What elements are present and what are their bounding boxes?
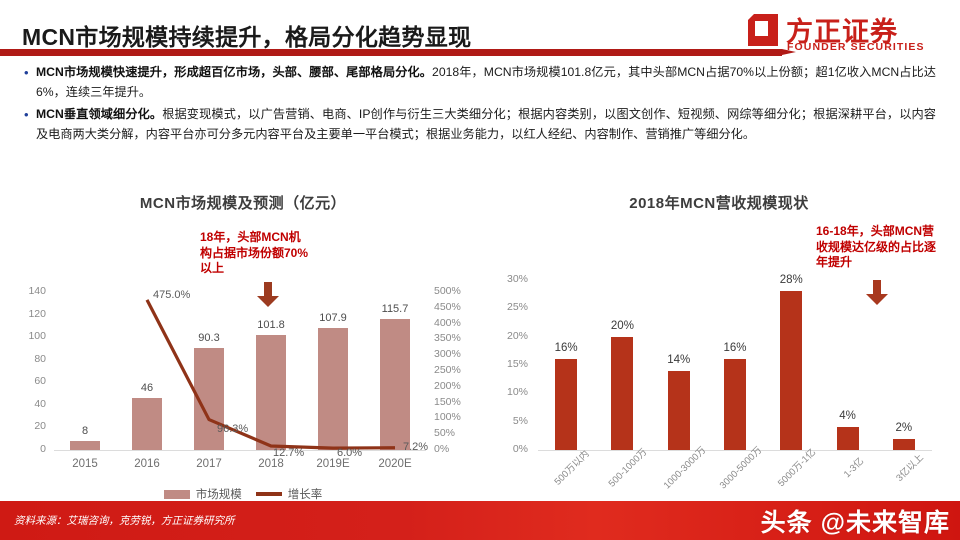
x-axis-line	[54, 450, 426, 451]
bar	[132, 398, 162, 450]
growth-rate-label: 6.0%	[337, 447, 362, 459]
chart-mcn-market-size: MCN市场规模及预测（亿元） 140120100806040200500%450…	[8, 192, 478, 504]
bullet-list: • MCN市场规模快速提升，形成超百亿市场，头部、腰部、尾部格局分化。2018年…	[24, 63, 936, 147]
bar-value-label: 4%	[818, 410, 878, 422]
slide: MCN市场规模持续提升，格局分化趋势显现 方正证券 FOUNDER SECURI…	[0, 0, 960, 540]
bar	[837, 427, 859, 450]
bar-value-label: 107.9	[303, 312, 363, 324]
y2-axis-tick-label: 500%	[434, 285, 461, 297]
growth-rate-label: 7.2%	[403, 441, 428, 453]
source-note: 资料来源：艾瑞咨询，克劳锐，方正证券研究所	[14, 513, 235, 528]
y-axis-tick-label: 80	[12, 353, 46, 365]
y-axis-tick-label: 20	[12, 420, 46, 432]
y2-axis-tick-label: 450%	[434, 301, 461, 313]
y2-axis-tick-label: 300%	[434, 348, 461, 360]
bar-value-label: 8	[55, 425, 115, 437]
bullet-text: MCN市场规模快速提升，形成超百亿市场，头部、腰部、尾部格局分化。2018年，M…	[36, 63, 936, 102]
chart-legend: 市场规模 增长率	[8, 486, 478, 502]
y-axis-tick-label: 0%	[490, 443, 528, 455]
bullet-lead: MCN市场规模快速提升，形成超百亿市场，头部、腰部、尾部格局分化。	[36, 65, 432, 79]
bar-value-label: 14%	[649, 354, 709, 366]
logo-english-name: FOUNDER SECURITIES	[787, 41, 925, 53]
bar	[256, 335, 286, 450]
y-axis-tick-label: 120	[12, 308, 46, 320]
x-axis-category-label: 2016	[113, 458, 181, 470]
bar-value-label: 16%	[536, 342, 596, 354]
bar	[611, 337, 633, 450]
x-axis-category-label: 2017	[175, 458, 243, 470]
y-axis-tick-label: 60	[12, 375, 46, 387]
y-axis-tick-label: 5%	[490, 415, 528, 427]
bar-value-label: 20%	[592, 320, 652, 332]
x-axis-category-label: 2018	[237, 458, 305, 470]
y-axis-tick-label: 10%	[490, 386, 528, 398]
growth-rate-label: 475.0%	[153, 289, 190, 301]
header-rule	[0, 49, 782, 56]
legend-swatch-bar	[164, 490, 190, 499]
bullet-lead: MCN垂直领域细分化。	[36, 107, 162, 121]
legend-item-line: 增长率	[256, 486, 323, 502]
y2-axis-tick-label: 400%	[434, 317, 461, 329]
legend-label-bar: 市场规模	[196, 486, 242, 502]
bar-value-label: 2%	[874, 422, 934, 434]
chart-plot-area: 140120100806040200500%450%400%350%300%25…	[8, 192, 478, 504]
slide-header: MCN市场规模持续提升，格局分化趋势显现 方正证券 FOUNDER SECURI…	[0, 0, 960, 56]
bar-value-label: 16%	[705, 342, 765, 354]
legend-swatch-line	[256, 492, 282, 496]
bar	[555, 359, 577, 450]
slide-footer: 资料来源：艾瑞咨询，克劳锐，方正证券研究所 头条 @未来智库	[0, 501, 960, 540]
growth-rate-label: 12.7%	[273, 447, 304, 459]
growth-rate-label: 96.3%	[217, 423, 248, 435]
x-axis-category-label: 2020E	[361, 458, 429, 470]
annotation-arrow-icon	[257, 282, 279, 308]
x-axis-category-label: 2015	[51, 458, 119, 470]
page-title: MCN市场规模持续提升，格局分化趋势显现	[22, 18, 471, 52]
bar	[70, 441, 100, 450]
bar-value-label: 28%	[761, 274, 821, 286]
chart-plot-area: 30%25%20%15%10%5%0%16%500万以内20%500-1000万…	[486, 192, 952, 504]
chart-annotation: 18年，头部MCN机构占据市场份额70%以上	[200, 230, 310, 277]
y-axis-tick-label: 40	[12, 398, 46, 410]
logo-mark-icon	[748, 14, 778, 46]
chart-annotation: 16-18年，头部MCN营收规模达亿级的占比逐年提升	[816, 224, 938, 271]
bullet-marker-icon: •	[24, 105, 36, 124]
bar	[724, 359, 746, 450]
y2-axis-tick-label: 200%	[434, 380, 461, 392]
legend-label-line: 增长率	[288, 486, 323, 502]
y-axis-tick-label: 0	[12, 443, 46, 455]
y2-axis-tick-label: 350%	[434, 332, 461, 344]
bullet-text: MCN垂直领域细分化。根据变现模式，以广告营销、电商、IP创作与衍生三大类细分化…	[36, 105, 936, 144]
founder-securities-logo: 方正证券 FOUNDER SECURITIES	[740, 12, 948, 56]
bar	[380, 319, 410, 450]
x-axis-category-label: 2019E	[299, 458, 367, 470]
y-axis-tick-label: 20%	[490, 330, 528, 342]
bullet-body: 根据变现模式，以广告营销、电商、IP创作与衍生三大类细分化；根据内容类别，以图文…	[36, 107, 936, 141]
chart-mcn-revenue-2018: 2018年MCN营收规模现状 30%25%20%15%10%5%0%16%500…	[486, 192, 952, 504]
bar	[318, 328, 348, 450]
y-axis-tick-label: 100	[12, 330, 46, 342]
y2-axis-tick-label: 50%	[434, 427, 455, 439]
y2-axis-tick-label: 0%	[434, 443, 449, 455]
bullet-marker-icon: •	[24, 63, 36, 82]
bar	[668, 371, 690, 450]
y-axis-tick-label: 30%	[490, 273, 528, 285]
y2-axis-tick-label: 150%	[434, 396, 461, 408]
bar-value-label: 115.7	[365, 303, 425, 315]
legend-item-bar: 市场规模	[164, 486, 242, 502]
y-axis-tick-label: 15%	[490, 358, 528, 370]
bar-value-label: 46	[117, 382, 177, 394]
y-axis-tick-label: 140	[12, 285, 46, 297]
bar	[893, 439, 915, 450]
bullet-item: • MCN垂直领域细分化。根据变现模式，以广告营销、电商、IP创作与衍生三大类细…	[24, 105, 936, 144]
y2-axis-tick-label: 250%	[434, 364, 461, 376]
bar	[194, 348, 224, 450]
bullet-item: • MCN市场规模快速提升，形成超百亿市场，头部、腰部、尾部格局分化。2018年…	[24, 63, 936, 102]
y-axis-tick-label: 25%	[490, 301, 528, 313]
bar	[780, 291, 802, 450]
bar-value-label: 90.3	[179, 332, 239, 344]
y2-axis-tick-label: 100%	[434, 411, 461, 423]
watermark: 头条 @未来智库	[761, 503, 950, 539]
bar-value-label: 101.8	[241, 319, 301, 331]
annotation-arrow-icon	[866, 280, 888, 306]
